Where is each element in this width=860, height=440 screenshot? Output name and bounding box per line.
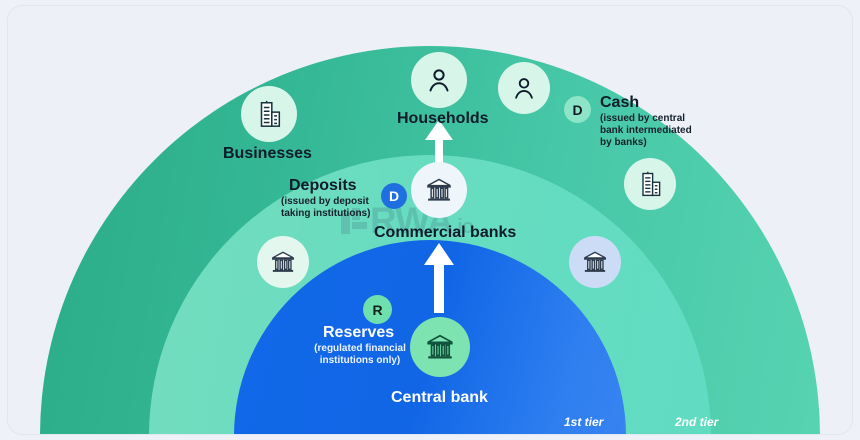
diagram-card: RWA.io Business: [8, 6, 852, 434]
person-icon: [511, 75, 537, 101]
deposits-note-line-2: taking institutions): [281, 208, 370, 220]
bubble-businesses-left[interactable]: [241, 86, 297, 142]
bank-icon: [582, 249, 608, 275]
label-businesses: Businesses: [223, 145, 312, 163]
badge-cash-d[interactable]: D: [564, 96, 591, 123]
reserves-note-line-1: (regulated financial: [300, 343, 420, 355]
bubble-commercial-bank-center[interactable]: [411, 162, 467, 218]
building-icon: [254, 99, 284, 129]
diagram-canvas: RWA.io Business: [0, 0, 860, 440]
bubble-households-right[interactable]: [498, 62, 550, 114]
reserves-note-line-2: institutions only): [300, 355, 420, 367]
label-reserves-note: (regulated financial institutions only): [300, 343, 420, 367]
label-2nd-tier: 2nd tier: [675, 415, 718, 429]
cash-note-line-2: bank intermediated: [600, 125, 692, 137]
label-cash: Cash: [600, 94, 639, 112]
badge-deposit-d[interactable]: D: [381, 183, 407, 209]
bubble-households-left[interactable]: [411, 52, 467, 108]
cash-note-line-1: (issued by central: [600, 113, 692, 125]
bank-icon: [270, 249, 296, 275]
label-1st-tier: 1st tier: [564, 415, 603, 429]
label-cash-note: (issued by central bank intermediated by…: [600, 113, 692, 149]
bubble-central-bank-center[interactable]: [410, 317, 470, 377]
bank-icon: [425, 176, 453, 204]
badge-reserves-r[interactable]: R: [363, 295, 392, 324]
bubble-commercial-bank-right[interactable]: [569, 236, 621, 288]
bubble-commercial-bank-left[interactable]: [257, 236, 309, 288]
bubble-businesses-right[interactable]: [624, 158, 676, 210]
bank-icon: [425, 332, 455, 362]
building-icon: [636, 170, 664, 198]
label-deposits: Deposits: [289, 177, 357, 195]
label-reserves: Reserves: [323, 324, 394, 342]
label-commercial-banks: Commercial banks: [374, 224, 516, 242]
label-central-bank: Central bank: [391, 389, 488, 407]
cash-note-line-3: by banks): [600, 137, 692, 149]
person-icon: [425, 66, 453, 94]
deposits-note-line-1: (issued by deposit: [281, 196, 370, 208]
label-households: Households: [397, 110, 489, 128]
label-deposits-note: (issued by deposit taking institutions): [281, 196, 370, 220]
